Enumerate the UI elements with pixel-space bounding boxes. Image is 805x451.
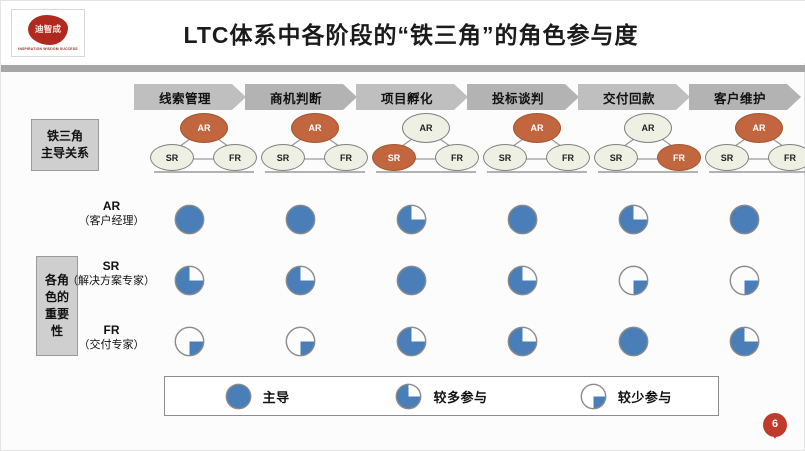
participation-pie-ar-stage-5 bbox=[618, 204, 649, 235]
triangle-node-sr[interactable]: SR bbox=[705, 144, 749, 171]
category-box-triangle-lead: 铁三角 主导关系 bbox=[31, 119, 99, 171]
triangle-node-sr[interactable]: SR bbox=[594, 144, 638, 171]
role-code-ar: AR bbox=[59, 199, 164, 214]
iron-triangle-stage-5: ARSRFR bbox=[592, 113, 704, 175]
iron-triangle-stage-4: ARSRFR bbox=[481, 113, 593, 175]
legend-item-low: 较少参与 bbox=[534, 383, 718, 410]
participation-pie-fr-stage-3 bbox=[396, 326, 427, 357]
logo-subtitle: INSPIRATION WISDOM SUCCESS bbox=[18, 47, 77, 52]
triangle-node-fr[interactable]: FR bbox=[768, 144, 805, 171]
participation-pie-sr-stage-3 bbox=[396, 265, 427, 296]
participation-pie-ar-stage-3 bbox=[396, 204, 427, 235]
stage-chevron-4[interactable]: 投标谈判 bbox=[467, 84, 579, 110]
triangle-node-fr[interactable]: FR bbox=[213, 144, 257, 171]
triangle-node-ar[interactable]: AR bbox=[735, 113, 783, 143]
logo-seal-icon: 迪智成 bbox=[28, 15, 68, 45]
slide-canvas: 迪智成 INSPIRATION WISDOM SUCCESS LTC体系中各阶段… bbox=[0, 0, 805, 451]
triangle-node-ar[interactable]: AR bbox=[402, 113, 450, 143]
triangle-node-fr[interactable]: FR bbox=[657, 144, 701, 171]
participation-pie-fr-stage-2 bbox=[285, 326, 316, 357]
triangle-node-sr[interactable]: SR bbox=[150, 144, 194, 171]
triangle-node-sr[interactable]: SR bbox=[483, 144, 527, 171]
participation-pie-fr-stage-1 bbox=[174, 326, 205, 357]
triangle-node-fr[interactable]: FR bbox=[435, 144, 479, 171]
title-divider bbox=[1, 65, 805, 72]
triangle-node-sr[interactable]: SR bbox=[261, 144, 305, 171]
triangle-node-ar[interactable]: AR bbox=[291, 113, 339, 143]
participation-pie-ar-stage-1 bbox=[174, 204, 205, 235]
participation-pie-sr-stage-5 bbox=[618, 265, 649, 296]
category-triangle-line1: 铁三角 bbox=[47, 128, 83, 145]
role-name-ar: （客户经理） bbox=[59, 214, 164, 229]
role-code-fr: FR bbox=[59, 323, 164, 338]
triangle-node-ar[interactable]: AR bbox=[513, 113, 561, 143]
participation-pie-ar-stage-4 bbox=[507, 204, 538, 235]
iron-triangle-stage-6: ARSRFR bbox=[703, 113, 805, 175]
role-label-fr: FR （交付专家） bbox=[59, 323, 164, 353]
category-triangle-line2: 主导关系 bbox=[41, 145, 89, 162]
legend-item-high: 较多参与 bbox=[349, 383, 533, 410]
slide-header: 迪智成 INSPIRATION WISDOM SUCCESS LTC体系中各阶段… bbox=[1, 1, 805, 63]
triangle-node-fr[interactable]: FR bbox=[324, 144, 368, 171]
legend: 主导 较多参与 较少参与 bbox=[164, 376, 719, 416]
participation-pie-fr-stage-4 bbox=[507, 326, 538, 357]
stage-chevron-3[interactable]: 项目孵化 bbox=[356, 84, 468, 110]
legend-pie-quarter-icon bbox=[580, 383, 607, 410]
participation-pie-sr-stage-4 bbox=[507, 265, 538, 296]
stage-chevron-2[interactable]: 商机判断 bbox=[245, 84, 357, 110]
triangle-node-ar[interactable]: AR bbox=[180, 113, 228, 143]
page-number-badge: 6 bbox=[763, 413, 787, 437]
triangle-node-fr[interactable]: FR bbox=[546, 144, 590, 171]
stage-chevron-5[interactable]: 交付回款 bbox=[578, 84, 690, 110]
iron-triangle-stage-1: ARSRFR bbox=[148, 113, 260, 175]
legend-label-high: 较多参与 bbox=[433, 387, 487, 406]
participation-pie-sr-stage-2 bbox=[285, 265, 316, 296]
iron-triangle-stage-3: ARSRFR bbox=[370, 113, 482, 175]
role-name-fr: （交付专家） bbox=[59, 338, 164, 353]
category-importance-line3: 重要 bbox=[45, 306, 69, 323]
participation-pie-ar-stage-6 bbox=[729, 204, 760, 235]
participation-pie-sr-stage-1 bbox=[174, 265, 205, 296]
company-logo: 迪智成 INSPIRATION WISDOM SUCCESS bbox=[11, 9, 85, 57]
participation-pie-fr-stage-5 bbox=[618, 326, 649, 357]
role-name-sr: （解决方案专家） bbox=[51, 274, 171, 289]
triangle-node-ar[interactable]: AR bbox=[624, 113, 672, 143]
participation-pie-sr-stage-6 bbox=[729, 265, 760, 296]
iron-triangle-stage-2: ARSRFR bbox=[259, 113, 371, 175]
role-label-sr: SR （解决方案专家） bbox=[51, 259, 171, 289]
page-number: 6 bbox=[772, 413, 778, 435]
legend-label-low: 较少参与 bbox=[618, 387, 672, 406]
participation-pie-fr-stage-6 bbox=[729, 326, 760, 357]
stage-chevron-row: 线索管理 商机判断 项目孵化 投标谈判 交付回款 客户维护 bbox=[134, 84, 794, 110]
pin-icon: 6 bbox=[763, 413, 787, 437]
legend-label-lead: 主导 bbox=[263, 387, 290, 406]
participation-pie-ar-stage-2 bbox=[285, 204, 316, 235]
stage-chevron-6[interactable]: 客户维护 bbox=[689, 84, 801, 110]
page-title: LTC体系中各阶段的“铁三角”的角色参与度 bbox=[111, 13, 711, 53]
triangle-node-sr[interactable]: SR bbox=[372, 144, 416, 171]
stage-chevron-1[interactable]: 线索管理 bbox=[134, 84, 246, 110]
category-importance-line2: 色的 bbox=[45, 289, 69, 306]
legend-pie-full-icon bbox=[225, 383, 252, 410]
role-label-ar: AR （客户经理） bbox=[59, 199, 164, 229]
legend-item-lead: 主导 bbox=[165, 383, 349, 410]
role-code-sr: SR bbox=[51, 259, 171, 274]
legend-pie-three-quarter-icon bbox=[395, 383, 422, 410]
logo-seal-text: 迪智成 bbox=[35, 25, 61, 34]
